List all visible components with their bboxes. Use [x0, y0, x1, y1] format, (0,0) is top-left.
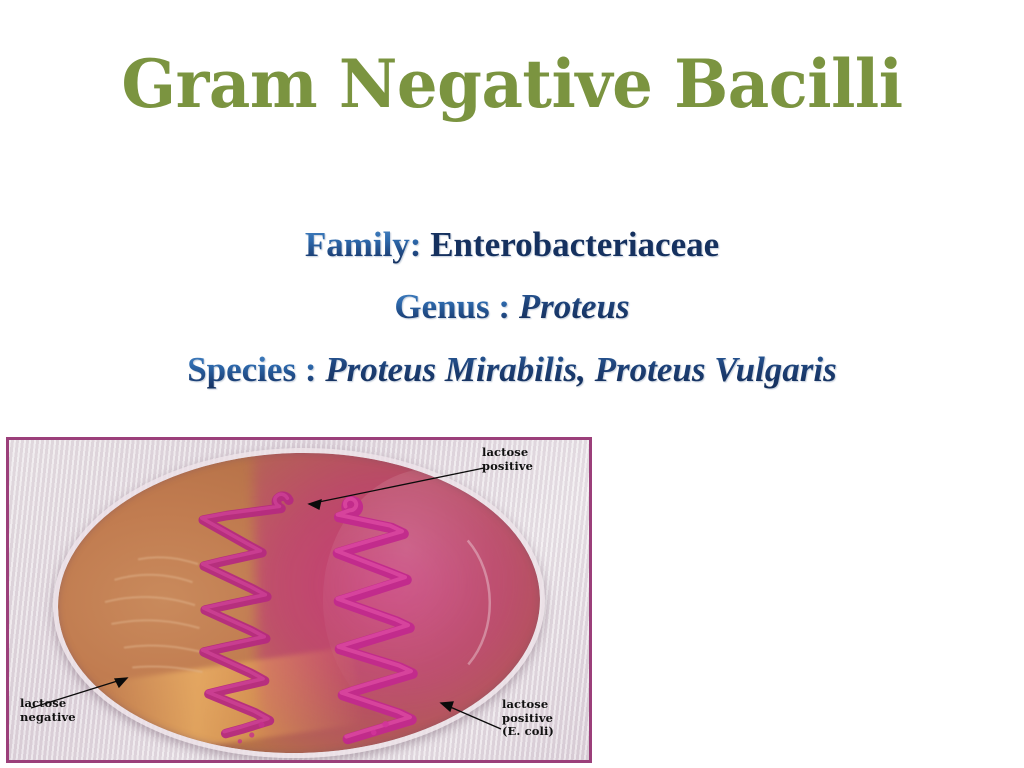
- annotation-lactose-positive-ecoli: lactose positive (E. coli): [502, 698, 554, 739]
- family-label: Family:: [305, 225, 422, 264]
- annotation-lactose-positive-top: lactose positive: [482, 446, 533, 473]
- annotation-line-2: negative: [20, 711, 76, 725]
- species-label: Species :: [187, 350, 316, 389]
- taxonomy-block: Family: Enterobacteriaceae Genus : Prote…: [0, 214, 1024, 402]
- page-title: Gram Negative Bacilli: [15, 48, 1008, 122]
- taxonomy-line-genus: Genus : Proteus: [0, 276, 1024, 338]
- annotation-line-2: positive: [502, 712, 554, 726]
- annotation-line-3: (E. coli): [502, 725, 554, 739]
- annotation-line-1: lactose: [20, 697, 76, 711]
- taxonomy-line-species: Species : Proteus Mirabilis, Proteus Vul…: [0, 338, 1024, 402]
- species-value: Proteus Mirabilis, Proteus Vulgaris: [325, 350, 837, 389]
- annotation-line-1: lactose: [482, 446, 533, 460]
- genus-value: Proteus: [519, 287, 630, 326]
- annotation-line-2: positive: [482, 460, 533, 474]
- taxonomy-line-family: Family: Enterobacteriaceae: [0, 214, 1024, 276]
- genus-label: Genus :: [394, 287, 510, 326]
- annotation-line-1: lactose: [502, 698, 554, 712]
- family-value: Enterobacteriaceae: [430, 225, 719, 264]
- annotation-lactose-negative: lactose negative: [20, 697, 76, 724]
